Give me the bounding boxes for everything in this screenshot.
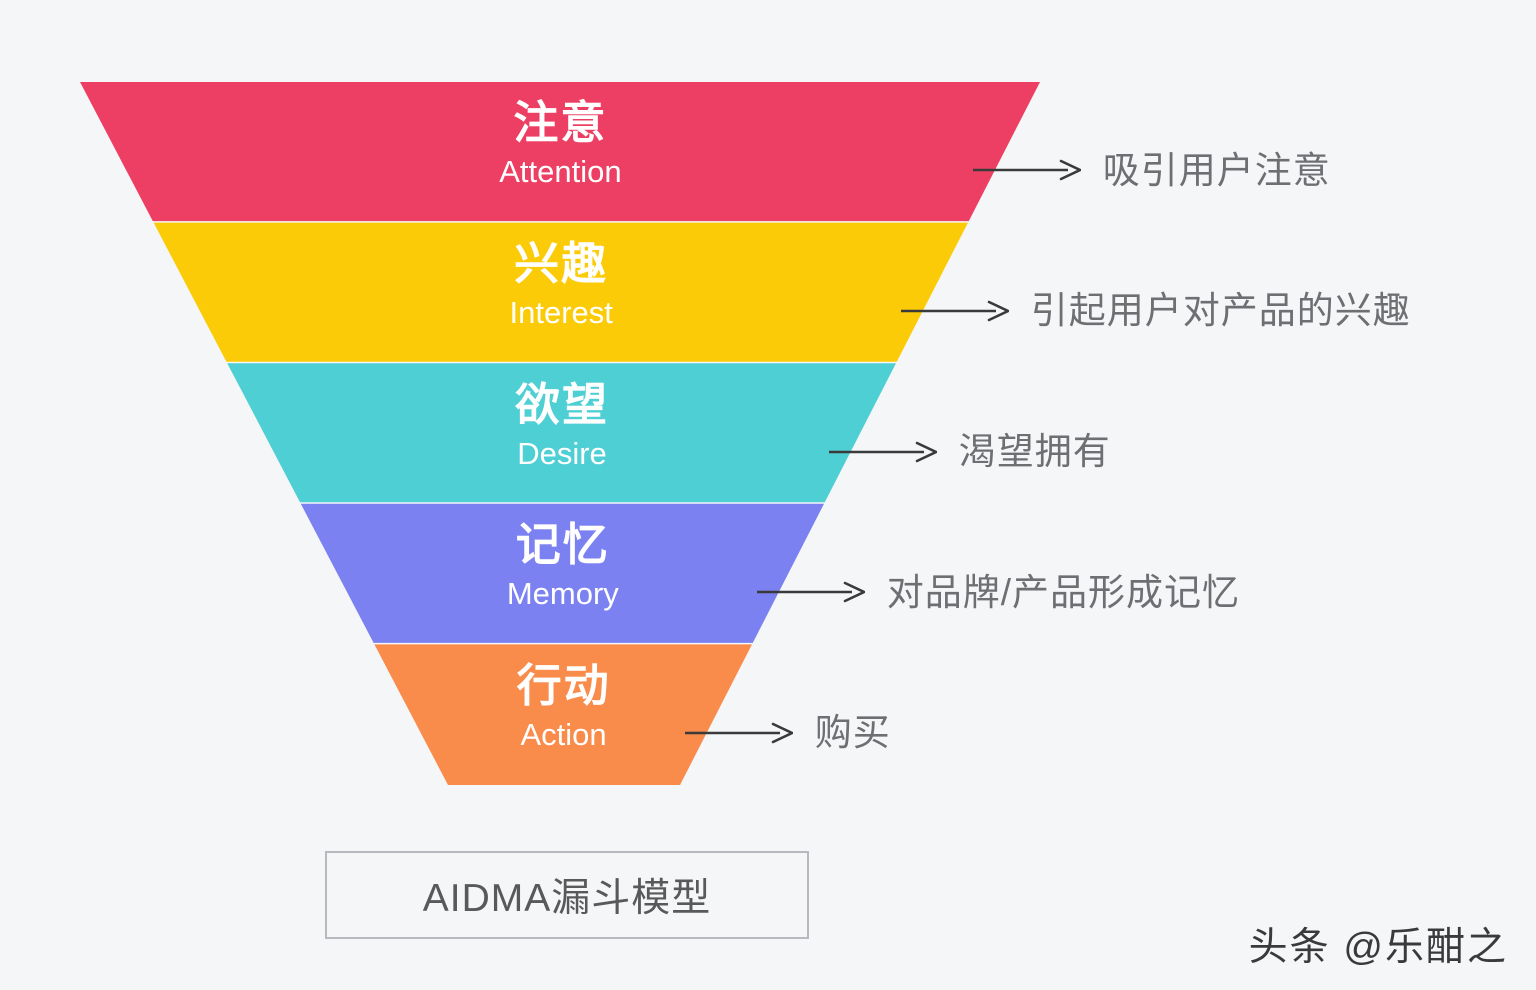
- arrow-icon: [685, 720, 793, 746]
- caption-label: AIDMA漏斗模型: [423, 867, 712, 923]
- stage-label-en: Attention: [360, 156, 760, 187]
- stage-label-en: Interest: [361, 297, 761, 328]
- stage-label-cn: 记忆: [363, 522, 763, 567]
- annotation-text: 引起用户对产品的兴趣: [1031, 292, 1411, 329]
- annotation-text: 购买: [815, 714, 891, 751]
- annotation-text: 吸引用户注意: [1103, 152, 1331, 189]
- annotation-text: 渴望拥有: [959, 433, 1111, 470]
- stage-label-en: Memory: [363, 578, 763, 609]
- funnel-stage-attention: 注意Attention: [360, 100, 760, 187]
- funnel-stage-memory: 记忆Memory: [363, 522, 763, 609]
- annotation-desire: 渴望拥有: [829, 426, 1111, 478]
- watermark: 头条 @乐酣之: [1249, 916, 1508, 972]
- diagram-canvas: 注意Attention兴趣Interest欲望Desire记忆Memory行动A…: [0, 0, 1536, 990]
- arrow-icon: [973, 157, 1081, 183]
- caption-box: AIDMA漏斗模型: [325, 851, 809, 939]
- annotation-interest: 引起用户对产品的兴趣: [901, 285, 1411, 337]
- arrow-icon: [901, 298, 1009, 324]
- arrow-icon: [757, 579, 865, 605]
- stage-label-cn: 注意: [360, 100, 760, 145]
- funnel-stage-interest: 兴趣Interest: [361, 241, 761, 328]
- stage-label-cn: 行动: [364, 663, 764, 708]
- funnel-stage-desire: 欲望Desire: [362, 382, 762, 469]
- annotation-attention: 吸引用户注意: [973, 144, 1331, 196]
- annotation-text: 对品牌/产品形成记忆: [887, 574, 1240, 611]
- annotation-memory: 对品牌/产品形成记忆: [757, 566, 1240, 618]
- arrow-icon: [829, 439, 937, 465]
- stage-label-cn: 兴趣: [361, 241, 761, 286]
- stage-label-cn: 欲望: [362, 382, 762, 427]
- annotation-action: 购买: [685, 707, 891, 759]
- stage-label-en: Desire: [362, 438, 762, 469]
